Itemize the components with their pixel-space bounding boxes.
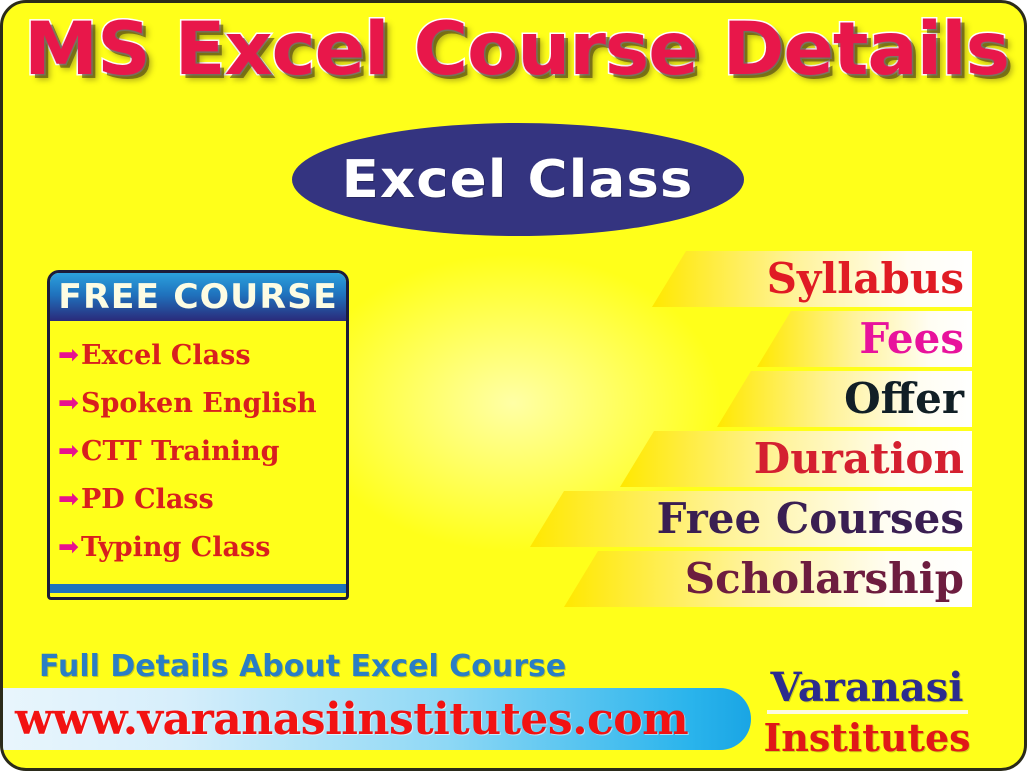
website-url-bar[interactable]: www.varanasiinstitutes.com	[0, 688, 751, 750]
banner-offer-label: Offer	[844, 377, 964, 421]
arrow-right-icon: ➡	[58, 391, 79, 416]
arrow-right-icon: ➡	[58, 487, 79, 512]
free-course-panel-footer-bar	[50, 584, 346, 593]
brand-logo-line2: Institutes	[732, 716, 1002, 760]
list-item-label: CTT Training	[81, 436, 280, 467]
banner-offer[interactable]: Offer	[717, 371, 972, 427]
banner-scholarship-label: Scholarship	[685, 557, 964, 601]
brand-logo-line1: Varanasi	[767, 667, 968, 714]
banner-scholarship[interactable]: Scholarship	[564, 551, 972, 607]
free-course-panel: FREE COURSE ➡ Excel Class ➡ Spoken Engli…	[47, 270, 349, 600]
banner-duration-label: Duration	[754, 437, 964, 481]
excel-class-badge: Excel Class	[292, 123, 744, 236]
list-item-label: Excel Class	[81, 340, 251, 371]
list-item[interactable]: ➡ Spoken English	[58, 379, 346, 427]
banner-fees[interactable]: Fees	[757, 311, 972, 367]
arrow-right-icon: ➡	[58, 343, 79, 368]
arrow-right-icon: ➡	[58, 535, 79, 560]
banner-syllabus[interactable]: Syllabus	[652, 251, 972, 307]
list-item-label: PD Class	[81, 484, 214, 515]
list-item-label: Spoken English	[81, 388, 317, 419]
list-item[interactable]: ➡ Typing Class	[58, 523, 346, 571]
free-course-panel-title: FREE COURSE	[58, 277, 338, 317]
topic-banner-list: Syllabus Fees Offer Duration Free Course…	[512, 251, 972, 611]
list-item-label: Typing Class	[81, 532, 271, 563]
page-title: MS Excel Course Details	[0, 7, 1027, 93]
banner-fees-label: Fees	[859, 317, 964, 361]
free-course-list: ➡ Excel Class ➡ Spoken English ➡ CTT Tra…	[50, 321, 346, 571]
brand-logo: Varanasi Institutes	[732, 667, 1002, 760]
tagline-text: Full Details About Excel Course	[39, 649, 566, 684]
banner-syllabus-label: Syllabus	[767, 257, 964, 301]
banner-duration[interactable]: Duration	[620, 431, 972, 487]
list-item[interactable]: ➡ PD Class	[58, 475, 346, 523]
banner-free-courses-label: Free Courses	[657, 497, 964, 541]
poster-canvas: MS Excel Course Details Excel Class FREE…	[0, 0, 1027, 771]
list-item[interactable]: ➡ Excel Class	[58, 331, 346, 379]
free-course-panel-header: FREE COURSE	[50, 273, 346, 321]
brand-logo-line1-wrap: Varanasi	[732, 667, 1002, 714]
list-item[interactable]: ➡ CTT Training	[58, 427, 346, 475]
banner-free-courses[interactable]: Free Courses	[530, 491, 972, 547]
website-url-text: www.varanasiinstitutes.com	[15, 694, 688, 745]
excel-class-badge-label: Excel Class	[342, 150, 694, 210]
arrow-right-icon: ➡	[58, 439, 79, 464]
